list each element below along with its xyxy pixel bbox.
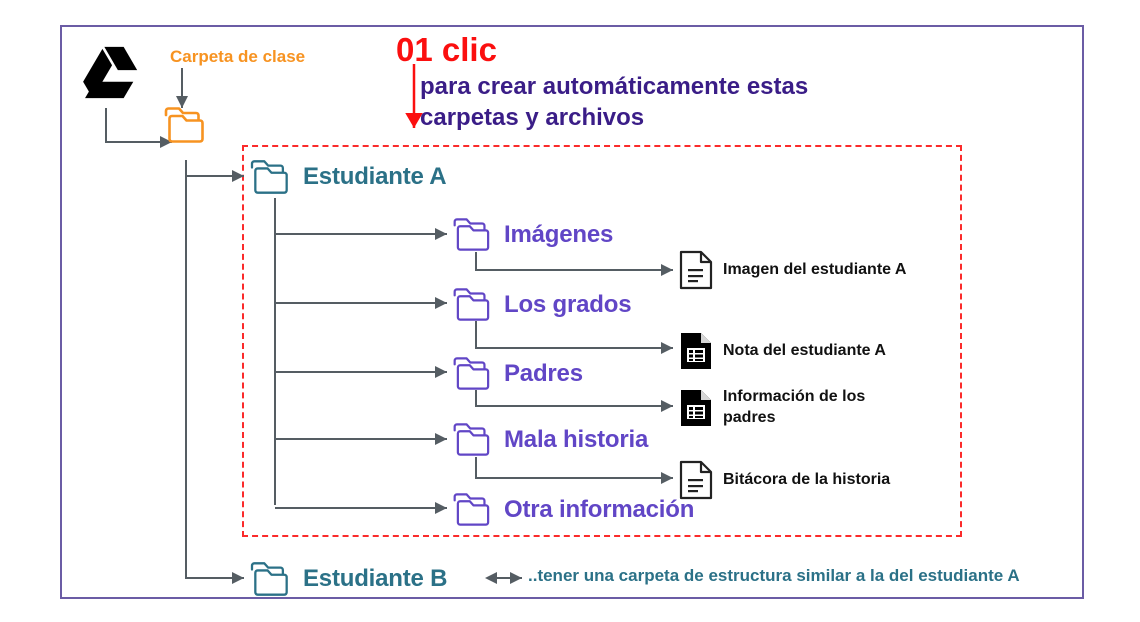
file-label: Imagen del estudiante A [723,260,906,281]
node-mala-historia[interactable]: Mala historia [451,421,648,458]
diagram-canvas: Carpeta de clase 01 clic para crear auto… [0,0,1140,622]
node-label: Padres [504,360,583,388]
google-drive-icon [83,45,145,101]
node-padres[interactable]: Padres [451,355,583,392]
node-estudiante-b[interactable]: Estudiante B [248,560,447,598]
node-imagenes[interactable]: Imágenes [451,216,613,253]
spreadsheet-filled-icon [679,388,713,428]
file-label: Información de los padres [723,387,865,429]
folder-teal-icon [248,158,294,196]
node-label: Estudiante B [303,565,447,593]
file-bitacora-historia[interactable]: Bitácora de la historia [679,460,890,500]
similar-structure-note: ..tener una carpeta de estructura simila… [528,566,1020,586]
node-label: Otra información [504,496,694,524]
folder-teal-icon [248,560,294,598]
node-label: Imágenes [504,221,613,249]
file-nota-estudiante-a[interactable]: Nota del estudiante A [679,331,886,371]
document-outline-icon [679,250,713,290]
click-body: para crear automáticamente estas carpeta… [420,72,808,133]
folder-purple-icon [451,491,495,528]
node-los-grados[interactable]: Los grados [451,286,631,323]
folder-purple-icon [451,421,495,458]
click-heading: 01 clic [396,33,497,66]
file-informacion-padres[interactable]: Información de los padres [679,387,865,429]
node-label: Mala historia [504,426,648,454]
folder-purple-icon [451,286,495,323]
file-label: Nota del estudiante A [723,341,886,362]
click-body-line2: carpetas y archivos [420,103,808,134]
folder-purple-icon [451,216,495,253]
click-body-line1: para crear automáticamente estas [420,72,808,103]
node-label: Los grados [504,291,631,319]
node-label: Estudiante A [303,163,446,191]
node-otra-informacion[interactable]: Otra información [451,491,694,528]
folder-purple-icon [451,355,495,392]
file-label: Bitácora de la historia [723,470,890,491]
node-estudiante-a[interactable]: Estudiante A [248,158,446,196]
spreadsheet-filled-icon [679,331,713,371]
file-imagen-estudiante-a[interactable]: Imagen del estudiante A [679,250,906,290]
class-folder-label: Carpeta de clase [170,47,305,67]
document-outline-icon [679,460,713,500]
folder-orange-icon[interactable] [162,105,210,145]
